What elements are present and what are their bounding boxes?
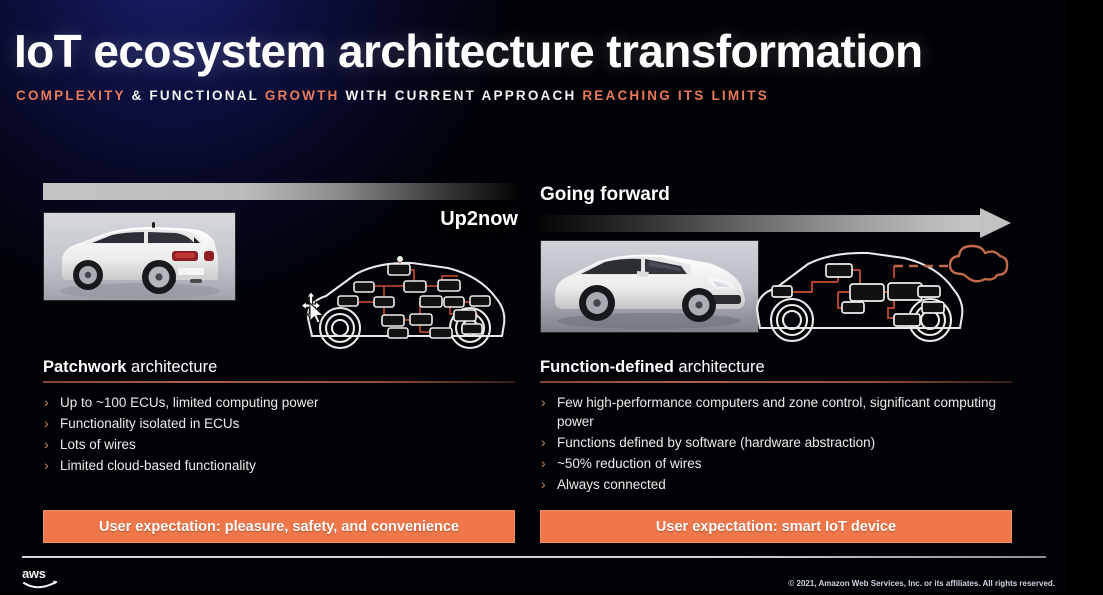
move-cursor [296,291,330,325]
bullet-list-right: ›Few high-performance computers and zone… [541,393,1011,496]
section-heading-right-regular: architecture [674,358,765,376]
chevron-right-icon: › [541,475,557,494]
panel-up2now: Up2now [42,150,518,550]
bullet-item: ›Lots of wires [44,435,514,454]
copyright-text: © 2021, Amazon Web Services, Inc. or its… [788,579,1055,588]
slide-canvas: IoT ecosystem architecture transformatio… [0,0,1103,594]
expectation-banner-right: User expectation: smart IoT device [540,510,1012,543]
page-subtitle: COMPLEXITY & FUNCTIONAL GROWTH WITH CURR… [16,88,769,103]
chevron-right-icon: › [44,393,60,412]
page-title: IoT ecosystem architecture transformatio… [14,24,922,78]
chevron-right-icon: › [44,456,60,475]
chevron-right-icon: › [44,414,60,433]
section-heading-left: Patchwork architecture [43,358,217,377]
bullet-text: Up to ~100 ECUs, limited computing power [60,393,319,412]
bullet-item: ›Functionality isolated in ECUs [44,414,514,433]
bullet-item: ›Always connected [541,475,1011,494]
bullet-item: ›Up to ~100 ECUs, limited computing powe… [44,393,514,412]
bullet-item: ›Few high-performance computers and zone… [541,393,1011,431]
bullet-text: Limited cloud-based functionality [60,456,256,475]
section-heading-right-strong: Function-defined [540,358,674,376]
car-photo-modern [540,240,759,333]
aws-logo: aws [22,566,66,590]
slide-right-letterbox [1068,0,1103,594]
chevron-right-icon: › [44,435,60,454]
bullet-text: Few high-performance computers and zone … [557,393,1011,431]
bullet-item: ›Limited cloud-based functionality [44,456,514,475]
subtitle-part-0: COMPLEXITY [16,88,131,103]
subtitle-part-1: & FUNCTIONAL [131,88,264,103]
expectation-banner-right-text: User expectation: smart IoT device [656,519,896,535]
expectation-banner-left: User expectation: pleasure, safety, and … [43,510,515,543]
chevron-right-icon: › [541,393,557,412]
subtitle-part-3: WITH CURRENT APPROACH [345,88,582,103]
section-rule-right [540,381,1012,383]
subtitle-part-4: REACHING ITS LIMITS [582,88,769,103]
subtitle-part-2: GROWTH [265,88,346,103]
section-heading-left-regular: architecture [126,358,217,376]
bullet-text: Functions defined by software (hardware … [557,433,875,452]
section-heading-right: Function-defined architecture [540,358,765,377]
chevron-right-icon: › [541,454,557,473]
panel-going-forward: Going forward [539,150,1012,550]
era-label-right: Going forward [540,184,670,206]
bullet-text: Always connected [557,475,666,494]
svg-text:aws: aws [22,566,46,581]
section-rule-left [43,381,515,383]
schematic-function-defined [754,230,1012,345]
bullet-item: ›Functions defined by software (hardware… [541,433,1011,452]
chevron-right-icon: › [541,433,557,452]
bullet-text: ~50% reduction of wires [557,454,701,473]
bullet-list-left: ›Up to ~100 ECUs, limited computing powe… [44,393,514,477]
bullet-text: Functionality isolated in ECUs [60,414,239,433]
section-heading-left-strong: Patchwork [43,358,126,376]
era-label-left: Up2now [440,208,518,231]
bullet-item: ›~50% reduction of wires [541,454,1011,473]
car-photo-legacy [43,212,236,301]
timeline-bar-left [43,183,517,200]
footer-divider [22,556,1046,558]
expectation-banner-left-text: User expectation: pleasure, safety, and … [99,519,459,535]
bullet-text: Lots of wires [60,435,136,454]
